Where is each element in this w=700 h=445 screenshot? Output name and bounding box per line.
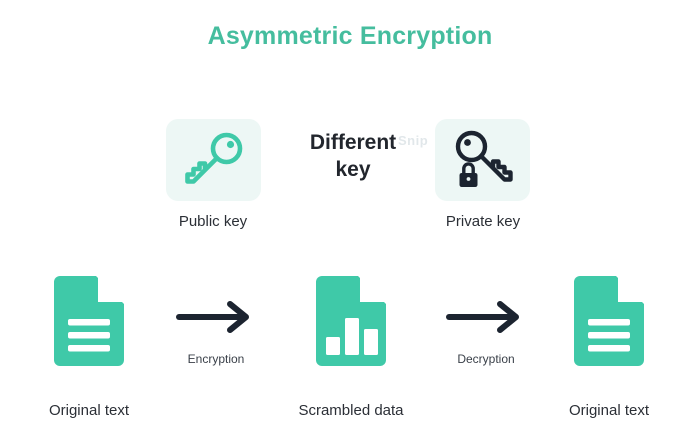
public-key-label: Public key (133, 213, 293, 230)
document-lines-icon (46, 275, 132, 367)
key-outline-icon (182, 132, 246, 188)
asymmetric-encryption-diagram: Asymmetric Encryption Public key Differe… (0, 0, 700, 445)
flow-step-label-1: Original text (9, 402, 169, 419)
arrow-right-icon (446, 300, 526, 334)
page-title: Asymmetric Encryption (0, 22, 700, 51)
arrow-label-encryption: Encryption (136, 352, 296, 366)
flow-step-label-3: Original text (529, 402, 689, 419)
arrow-label-decryption: Decryption (406, 352, 566, 366)
private-key-label: Private key (403, 213, 563, 230)
different-key-line2: key (286, 157, 420, 184)
public-key-tile (166, 119, 261, 201)
key-with-lock-icon (450, 130, 516, 190)
arrow-right-icon (176, 300, 256, 334)
private-key-tile (435, 119, 530, 201)
document-chart-icon (308, 275, 394, 367)
flow-step-label-2: Scrambled data (271, 402, 431, 419)
document-lines-icon (566, 275, 652, 367)
watermark-text: Snip (398, 133, 428, 148)
